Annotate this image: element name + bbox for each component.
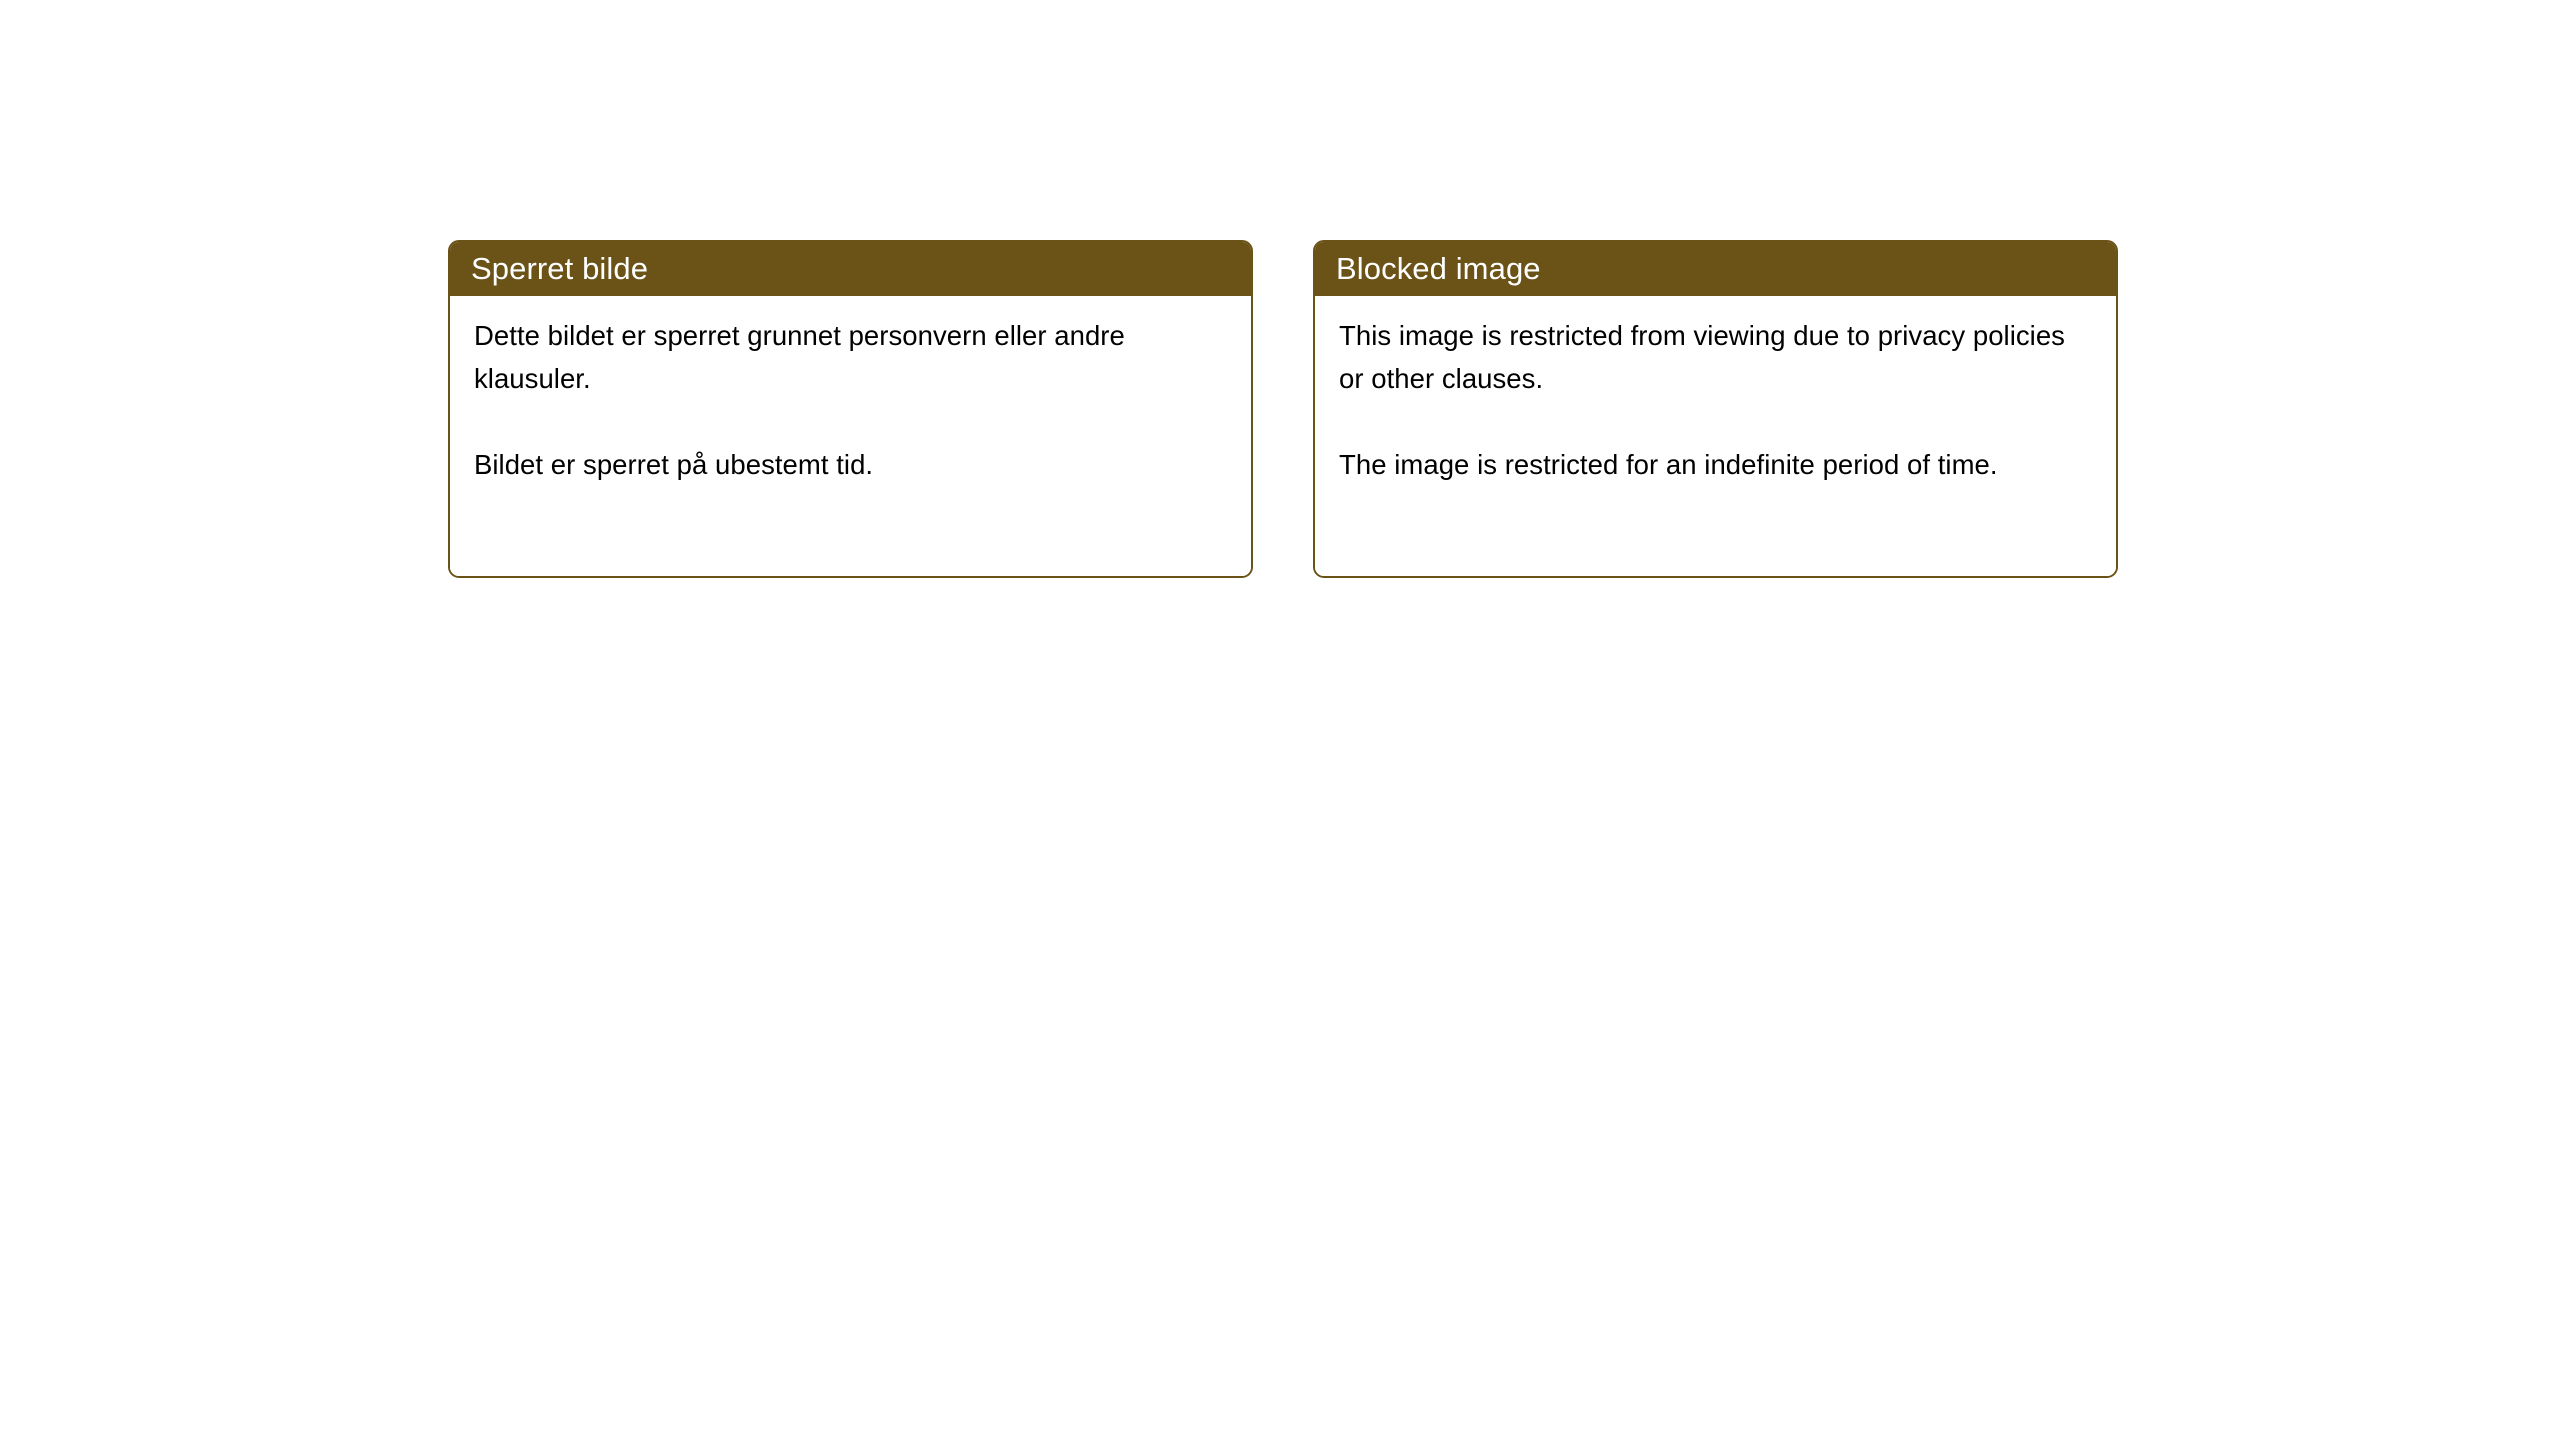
- panel-paragraph-secondary-english: The image is restricted for an indefinit…: [1339, 443, 2094, 486]
- panel-title-english: Blocked image: [1336, 252, 1541, 286]
- panel-header-english: Blocked image: [1315, 242, 2116, 296]
- panel-title-norwegian: Sperret bilde: [471, 252, 648, 286]
- panel-paragraph-primary-english: This image is restricted from viewing du…: [1339, 314, 2094, 400]
- blocked-image-panel-norwegian: Sperret bilde Dette bildet er sperret gr…: [448, 240, 1253, 578]
- panel-body-norwegian: Dette bildet er sperret grunnet personve…: [450, 296, 1251, 576]
- panel-body-english: This image is restricted from viewing du…: [1315, 296, 2116, 576]
- panel-paragraph-secondary-norwegian: Bildet er sperret på ubestemt tid.: [474, 443, 1229, 486]
- blocked-image-panel-english: Blocked image This image is restricted f…: [1313, 240, 2118, 578]
- blocked-image-notice-area: Sperret bilde Dette bildet er sperret gr…: [448, 240, 2118, 580]
- panel-paragraph-primary-norwegian: Dette bildet er sperret grunnet personve…: [474, 314, 1229, 400]
- panel-header-norwegian: Sperret bilde: [450, 242, 1251, 296]
